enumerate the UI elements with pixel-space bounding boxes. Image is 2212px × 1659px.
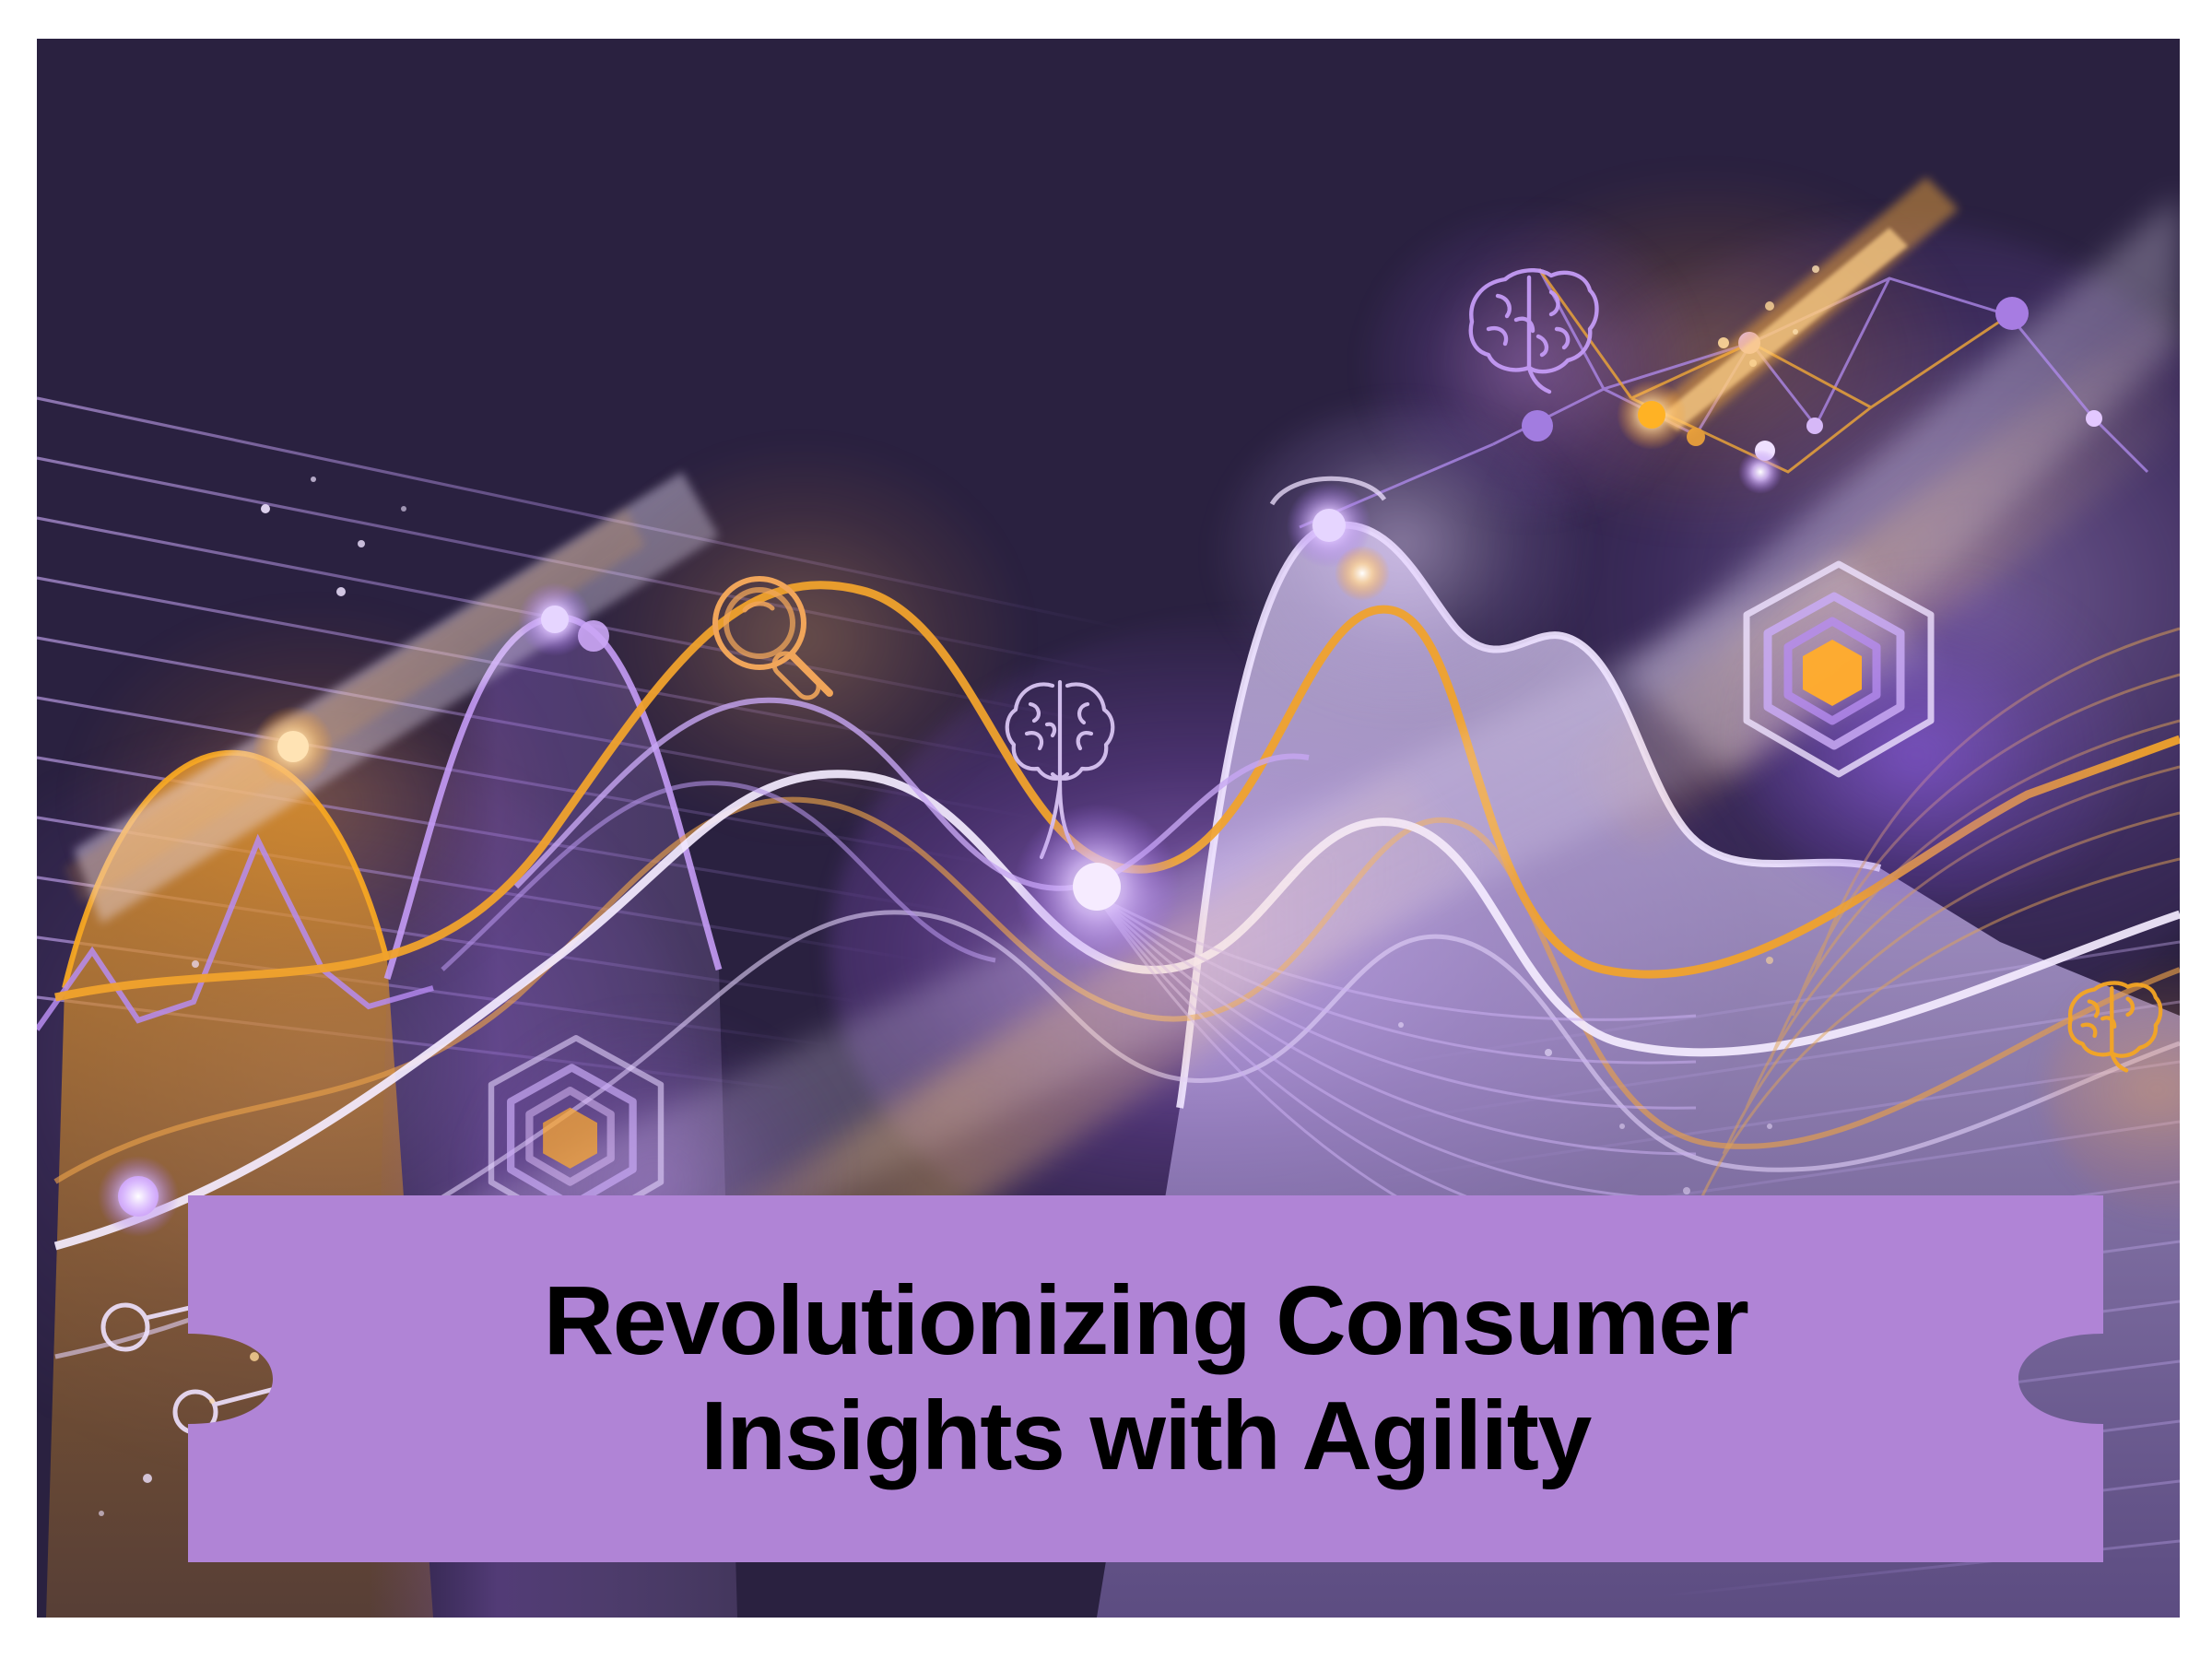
- slide-canvas: Revolutionizing Consumer Insights with A…: [0, 0, 2212, 1659]
- network-node-icon: [1995, 297, 2029, 330]
- brain-small-icon: [2070, 982, 2160, 1070]
- network-node-icon: [1522, 410, 1553, 441]
- network-node-icon: [1806, 418, 1823, 434]
- title-banner: Revolutionizing Consumer Insights with A…: [188, 1195, 2103, 1562]
- brain-side-icon: [1471, 270, 1597, 392]
- node-glow: [98, 1156, 179, 1237]
- network-node-icon: [2086, 410, 2102, 427]
- hero-illustration: Revolutionizing Consumer Insights with A…: [37, 39, 2180, 1618]
- title-line-2: Insights with Agility: [700, 1379, 1591, 1494]
- hexagon-cube-icon: [1747, 564, 1931, 774]
- title-text-block: Revolutionizing Consumer Insights with A…: [188, 1195, 2103, 1562]
- magnifier-icon: [715, 579, 829, 702]
- comet-spark-icon: [1617, 177, 1959, 450]
- title-line-1: Revolutionizing Consumer: [544, 1264, 1748, 1379]
